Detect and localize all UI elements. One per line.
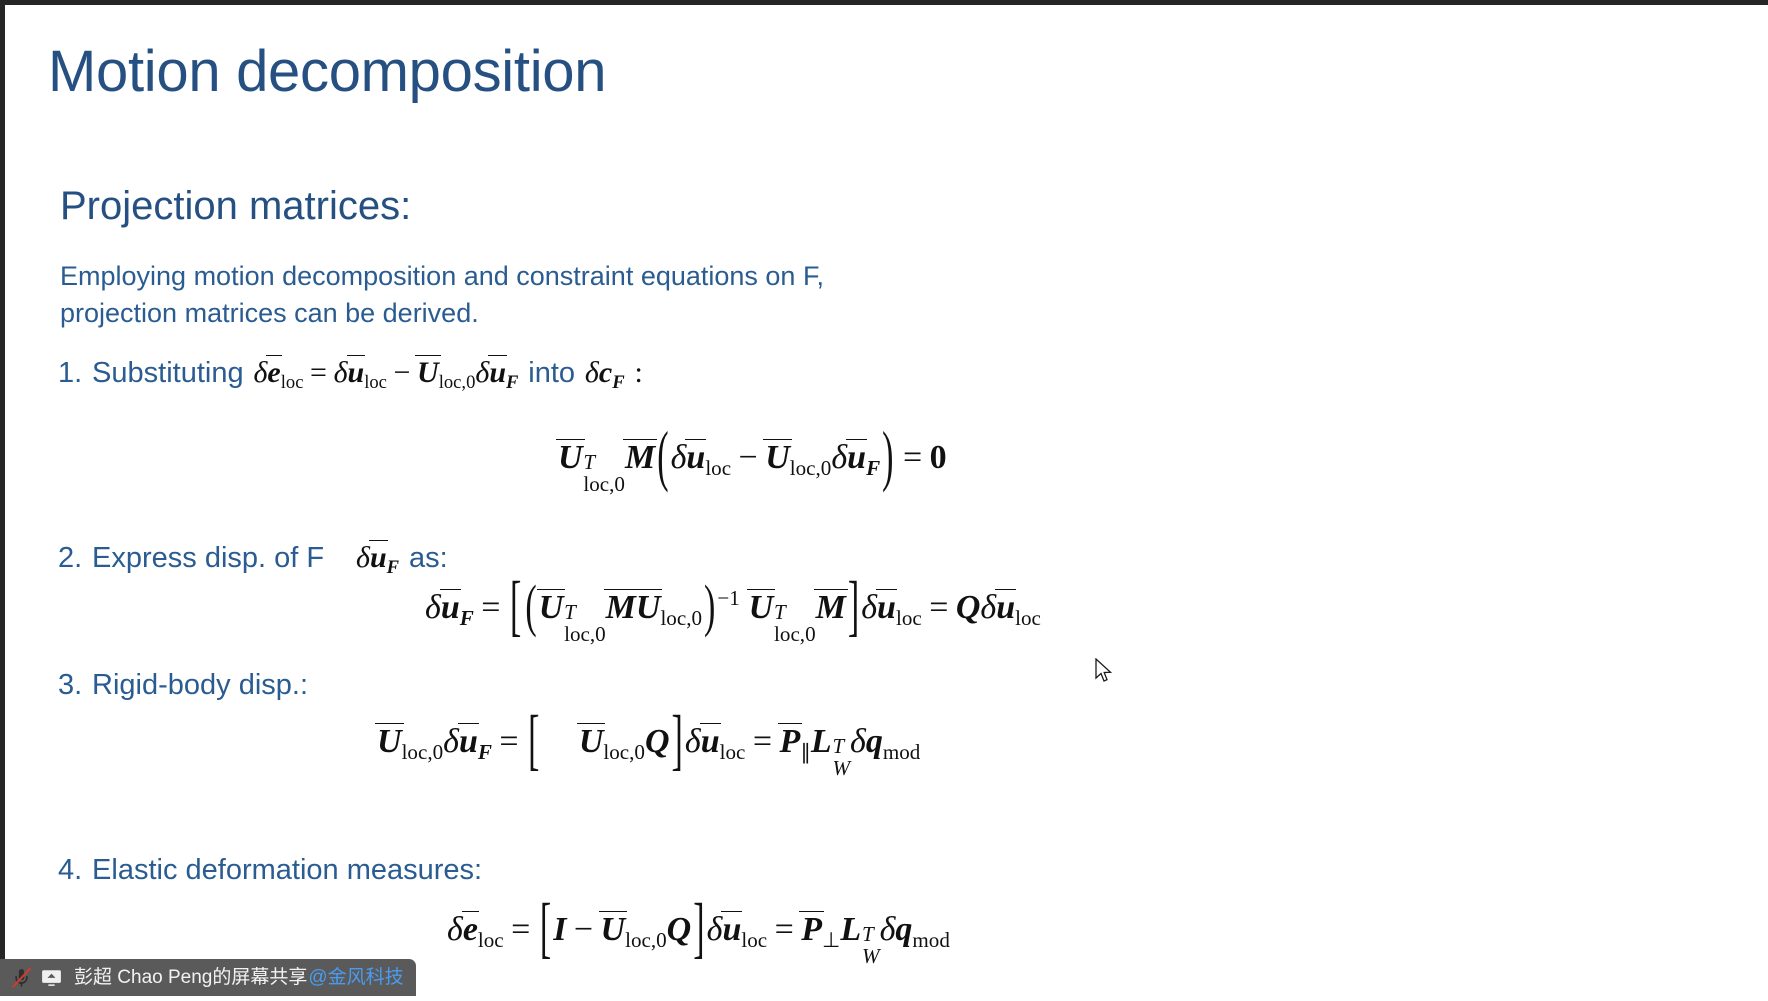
section-heading: Projection matrices: bbox=[60, 182, 411, 230]
step-2-text-before: Express disp. of F bbox=[92, 540, 324, 576]
step-2-text-after: as: bbox=[409, 540, 448, 576]
page-title: Motion decomposition bbox=[48, 39, 606, 105]
step-1-colon: : bbox=[634, 355, 642, 391]
display-equation-4: δeloc = [ I − Uloc,0Q ] δuloc = P⊥ LTW δ… bbox=[447, 910, 950, 966]
display-equation-3: Uloc,0δuF = [ Uloc,0Q ] δuloc = P∥ LTW δ… bbox=[377, 722, 920, 778]
step-1-inline-equation-2: δcF bbox=[585, 355, 625, 391]
step-3-text-before: Rigid-body disp.: bbox=[92, 667, 308, 703]
mouse-pointer-icon bbox=[1095, 658, 1115, 685]
step-1-text-after: into bbox=[528, 355, 575, 391]
share-handle-label: @金风科技 bbox=[308, 966, 403, 990]
step-3-line: 3. Rigid-body disp.: bbox=[58, 667, 308, 703]
presentation-window: Motion decomposition Projection matrices… bbox=[0, 0, 1768, 996]
screen-share-icon[interactable] bbox=[38, 965, 64, 991]
intro-line-1: Employing motion decomposition and const… bbox=[60, 258, 1160, 295]
step-3-number: 3. bbox=[58, 667, 82, 703]
step-1-inline-equation: δeloc = δuloc − Uloc,0δuF bbox=[253, 354, 518, 391]
step-4-line: 4. Elastic deformation measures: bbox=[58, 852, 482, 888]
intro-line-2: projection matrices can be derived. bbox=[60, 295, 1160, 332]
share-status-label: 彭超 Chao Peng的屏幕共享 bbox=[74, 966, 307, 990]
slide-surface: Motion decomposition Projection matrices… bbox=[10, 10, 1768, 1001]
step-4-text-before: Elastic deformation measures: bbox=[92, 852, 482, 888]
microphone-muted-icon[interactable] bbox=[8, 965, 34, 991]
display-equation-1: UTloc,0 M ( δuloc − Uloc,0δuF ) = 0 bbox=[558, 438, 947, 494]
step-1-line: 1. Substituting δeloc = δuloc − Uloc,0δu… bbox=[58, 354, 643, 391]
step-2-inline-equation: δuF bbox=[356, 539, 399, 576]
step-4-number: 4. bbox=[58, 852, 82, 888]
step-1-text-before: Substituting bbox=[92, 355, 244, 391]
step-2-line: 2. Express disp. of F δuF as: bbox=[58, 539, 448, 576]
display-equation-2: δuF = [ ( UTloc,0 MUloc,0 )−1 UTloc,0 M … bbox=[425, 588, 1041, 644]
screen-share-taskbar[interactable]: 彭超 Chao Peng的屏幕共享 @金风科技 bbox=[0, 959, 416, 996]
step-1-number: 1. bbox=[58, 355, 82, 391]
step-2-number: 2. bbox=[58, 540, 82, 576]
intro-paragraph: Employing motion decomposition and const… bbox=[60, 258, 1160, 332]
